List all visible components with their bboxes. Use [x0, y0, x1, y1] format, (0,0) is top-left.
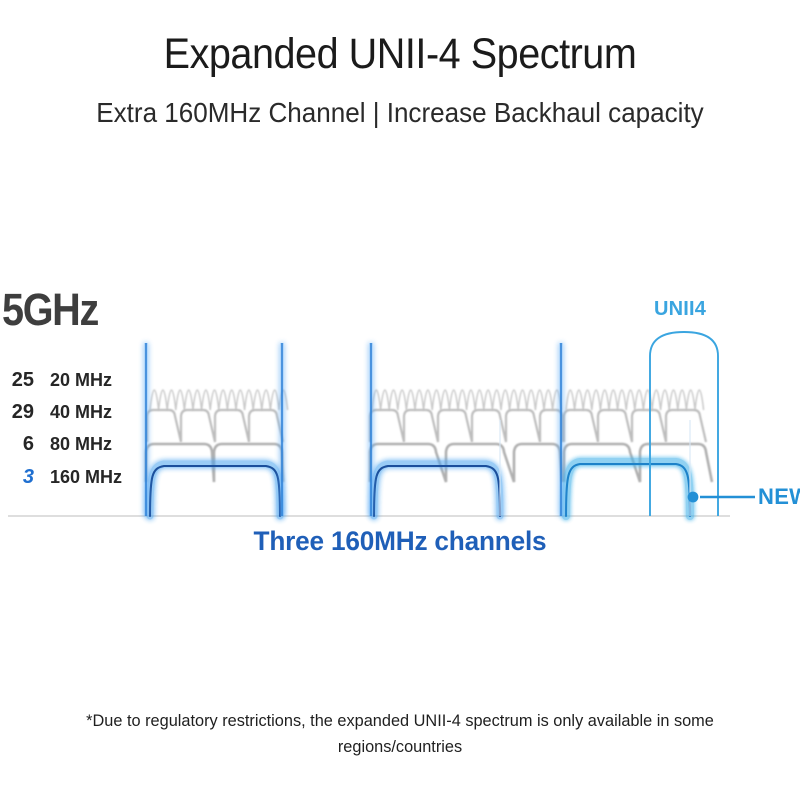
three-channels-callout: Three 160MHz channels: [12, 526, 788, 557]
footnote-text: *Due to regulatory restrictions, the exp…: [74, 708, 727, 760]
page-subtitle: Extra 160MHz Channel | Increase Backhaul…: [28, 97, 772, 129]
new-callout-dot: [688, 492, 699, 503]
infographic-canvas: Expanded UNII-4 Spectrum Extra 160MHz Ch…: [0, 0, 800, 800]
curve-40mhz: [147, 410, 706, 442]
curve-160mhz: [150, 462, 690, 516]
channel-160-block3-new: [566, 464, 690, 516]
band-edge-lines: [146, 343, 690, 516]
curve-20mhz: [150, 390, 704, 410]
unii4-bracket: [650, 332, 718, 516]
channel-160-block2: [374, 466, 500, 516]
new-callout-connector: [688, 492, 755, 503]
page-title: Expanded UNII-4 Spectrum: [32, 30, 768, 79]
new-badge-label: NEW: [758, 484, 800, 510]
unii4-label: UNII4: [654, 298, 706, 321]
